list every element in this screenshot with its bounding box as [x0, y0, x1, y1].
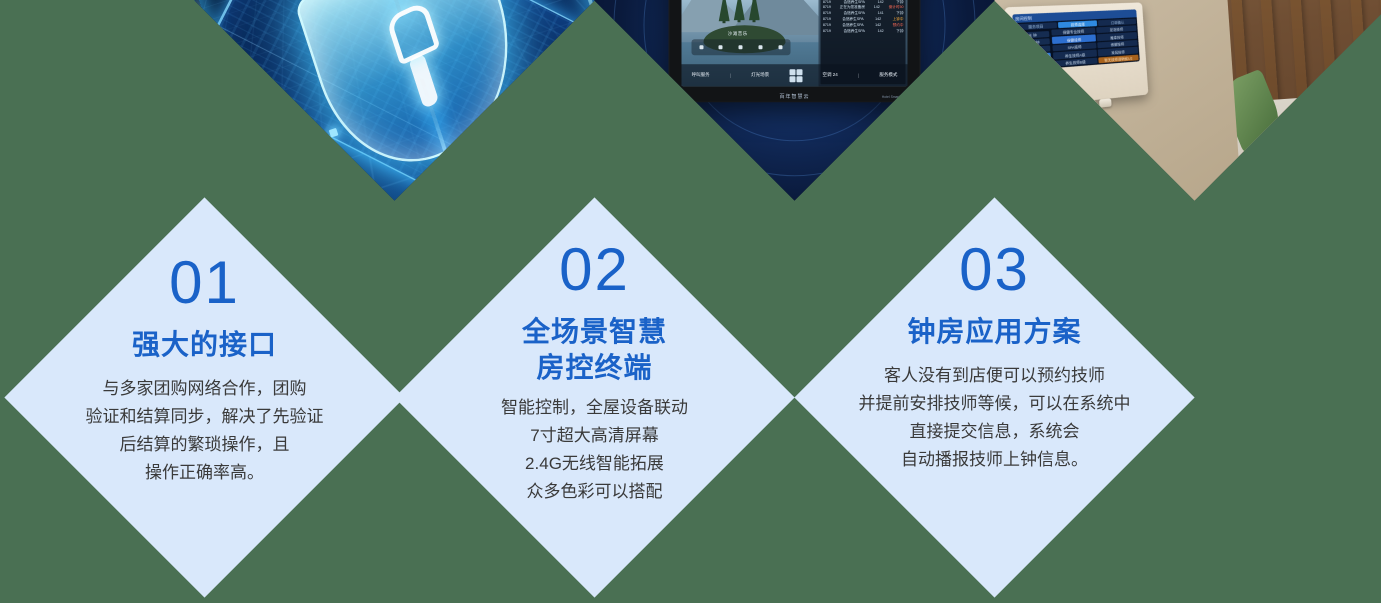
scene-label: 沙滩音乐 — [682, 31, 795, 37]
grid-item[interactable]: 推拿技师 — [1096, 32, 1137, 41]
cell-time: 142 — [875, 22, 881, 27]
cell-guest: 8719 — [823, 5, 831, 10]
cell-guest: 8719 — [823, 22, 831, 27]
panel-hardware-buttons[interactable] — [1016, 98, 1111, 117]
media-control-bar[interactable] — [691, 38, 790, 55]
cell-guest: 8719 — [823, 17, 831, 22]
cell-time: 141 — [878, 11, 884, 16]
card-body-line: 验证和结算同步，解决了先验证 — [86, 402, 324, 430]
cell-guest: 8719 — [823, 0, 831, 4]
table-row: 8719 会馆养生SPA 141 下钟 — [822, 10, 905, 16]
hw-button[interactable] — [1099, 98, 1112, 107]
hw-button[interactable] — [1016, 106, 1030, 116]
card-content-3: 03 钟房应用方案 客人没有到店便可以预约技师 并提前安排技师等候，可以在系统中… — [795, 198, 1195, 598]
circuit-board-illustration — [195, 0, 595, 201]
card-body-line: 直接提交信息，系统会 — [859, 417, 1131, 445]
wall-control-panel[interactable]: 房间控制 服务项目 技师选择 订单确认 点 钟 CALL钟 圈 钟 排钟位 — [1004, 2, 1148, 108]
room-photo-illustration: 房间控制 服务项目 技师选择 订单确认 点 钟 CALL钟 圈 钟 排钟位 — [995, 0, 1381, 201]
card-content-1: 01 强大的接口 与多家团购网络合作，团购 验证和结算同步，解决了先验证 后结算… — [5, 198, 405, 598]
feature-image-1 — [194, 0, 594, 201]
cell-time: 142 — [878, 0, 884, 4]
card-body-line: 智能控制，全屋设备联动 — [501, 393, 688, 421]
tablet-bottom-bar[interactable]: 呼叫服务 | 灯光场景 空调 24 | 服务模式 — [682, 64, 908, 86]
cell-item: 会馆养生SPA — [844, 11, 865, 16]
next-icon[interactable] — [758, 44, 762, 48]
cell-guest: 8719 — [823, 11, 831, 16]
hw-button[interactable] — [1067, 101, 1080, 111]
table-row: 8719 会馆养生SPA 142 下钟 — [822, 0, 905, 5]
hw-button[interactable] — [1083, 99, 1096, 109]
menu-item[interactable]: 圈 钟 — [1016, 45, 1051, 53]
cell-item: 会馆养生SPA — [844, 0, 865, 4]
card-heading: 钟房应用方案 — [907, 314, 1081, 350]
card-content-2: 02 全场景智慧 房控终端 智能控制，全屋设备联动 7寸超大高清屏幕 2.4G无… — [395, 198, 795, 598]
card-number: 03 — [959, 240, 1030, 300]
card-body-line: 客人没有到店便可以预约技师 — [859, 361, 1131, 389]
card-body-line: 自动播报技师上钟信息。 — [859, 445, 1131, 473]
cell-time: 142 — [875, 17, 881, 22]
btn-call-service[interactable]: 呼叫服务 — [692, 72, 710, 78]
tree-shape — [738, 0, 741, 22]
card-heading: 强大的接口 — [132, 327, 277, 363]
hw-button[interactable] — [1051, 103, 1065, 113]
menu-item-active[interactable]: 排钟位 — [1016, 52, 1051, 60]
tablet-brand-sub: Hotel Smart Control — [882, 94, 912, 98]
cell-item: 会馆养生SPA — [842, 17, 863, 22]
list-icon[interactable] — [778, 44, 782, 48]
btn-service-mode[interactable]: 服务模式 — [879, 72, 897, 78]
cell-item: 正在为您准备房 — [840, 5, 865, 10]
card-body: 与多家团购网络合作，团购 验证和结算同步，解决了先验证 后结算的繁琐操作，且 操… — [85, 374, 323, 486]
feature-image-2: CS/280 沙滩音乐 — [594, 0, 994, 201]
hw-button[interactable] — [1034, 104, 1048, 114]
card-body-line: 众多色彩可以搭配 — [501, 477, 688, 505]
tree-shape — [723, 0, 726, 23]
tablet-screen[interactable]: 沙滩音乐 22:35 — [682, 0, 908, 86]
cell-status: 下钟 — [896, 28, 903, 33]
card-body: 智能控制，全屋设备联动 7寸超大高清屏幕 2.4G无线智能拓展 众多色彩可以搭配 — [501, 393, 688, 505]
room-control-tablet[interactable]: CS/280 沙滩音乐 — [670, 0, 920, 100]
table-row: 8719 正在为您准备房 142 倒计时50 — [822, 5, 905, 11]
cell-time: 142 — [878, 28, 884, 33]
divider: | — [858, 72, 859, 77]
menu-item[interactable]: CALL钟 — [1015, 37, 1050, 45]
table-row: 8719 会馆养生SPA 142 上钟中 — [822, 16, 905, 22]
cell-guest: 8719 — [823, 28, 831, 33]
card-number: 02 — [559, 240, 630, 300]
card-body-line: 2.4G无线智能拓展 — [501, 449, 688, 477]
feature-card-2: 02 全场景智慧 房控终端 智能控制，全屋设备联动 7寸超大高清屏幕 2.4G无… — [394, 197, 794, 597]
cell-item: 会馆养生SPA — [844, 28, 865, 33]
apps-grid-icon[interactable] — [789, 68, 802, 81]
card-body-line: 与多家团购网络合作，团购 — [86, 374, 324, 402]
card-heading-line: 房控终端 — [522, 349, 667, 385]
cell-status: 下钟 — [896, 11, 903, 16]
card-body-line: 后结算的繁琐操作，且 — [86, 430, 324, 458]
feature-card-3: 03 钟房应用方案 客人没有到店便可以预约技师 并提前安排技师等候，可以在系统中… — [794, 197, 1194, 597]
card-body-line: 操作正确率高。 — [85, 458, 323, 486]
card-heading-line: 全场景智慧 — [522, 314, 667, 350]
tree-shape — [753, 0, 756, 22]
menu-item[interactable]: 直 钟 — [1017, 60, 1052, 69]
card-number: 01 — [169, 253, 240, 313]
grid-item-selected[interactable]: 保健技师 — [1052, 34, 1096, 43]
card-body-line: 并提前安排技师等候，可以在系统中 — [859, 389, 1131, 417]
card-body: 客人没有到店便可以预约技师 并提前安排技师等候，可以在系统中 直接提交信息，系统… — [859, 361, 1131, 473]
menu-item[interactable]: 点 钟 — [1015, 30, 1050, 38]
feature-card-1: 01 强大的接口 与多家团购网络合作，团购 验证和结算同步，解决了先验证 后结算… — [4, 197, 404, 597]
btn-aircon[interactable]: 空调 24 — [823, 72, 838, 78]
grid-item[interactable]: 保健专业技师 — [1051, 27, 1095, 36]
card-body-line: 7寸超大高清屏幕 — [501, 421, 688, 449]
btn-light-scene[interactable]: 灯光场景 — [751, 72, 769, 78]
cell-status: 倒计时50 — [889, 5, 904, 10]
cell-item: 会馆养生SPA — [842, 22, 863, 27]
card-heading: 全场景智慧 房控终端 — [522, 314, 667, 386]
grid-item[interactable]: 足浴技师 — [1096, 25, 1137, 33]
table-row: 8719 会馆养生SPA 142 预约中 — [822, 22, 905, 28]
cell-status: 下钟 — [896, 0, 903, 4]
cell-status: 预约中 — [893, 22, 904, 27]
cell-status: 上钟中 — [893, 17, 904, 22]
feature-image-3: 房间控制 服务项目 技师选择 订单确认 点 钟 CALL钟 圈 钟 排钟位 — [994, 0, 1381, 201]
cell-time: 142 — [874, 5, 880, 10]
prev-icon[interactable] — [719, 44, 723, 48]
play-icon[interactable] — [739, 44, 743, 48]
panel-technician-grid[interactable]: 保健专业技师 足浴技师 保健技师 推拿技师 SPA技师 修脚技师 养生技师A级 … — [1050, 23, 1140, 67]
infographic-stage: CS/280 沙滩音乐 — [0, 0, 1381, 603]
panel-side-menu[interactable]: 点 钟 CALL钟 圈 钟 排钟位 直 钟 — [1013, 28, 1052, 71]
plant-leaf — [1293, 120, 1355, 181]
volume-icon[interactable] — [699, 44, 703, 48]
panel-screen[interactable]: 房间控制 服务项目 技师选择 订单确认 点 钟 CALL钟 圈 钟 排钟位 — [1012, 9, 1139, 71]
table-row: 8719 会馆养生SPA 142 下钟 — [822, 28, 905, 34]
divider: | — [730, 72, 731, 77]
tablet-scene-illustration: CS/280 沙滩音乐 — [595, 0, 995, 201]
